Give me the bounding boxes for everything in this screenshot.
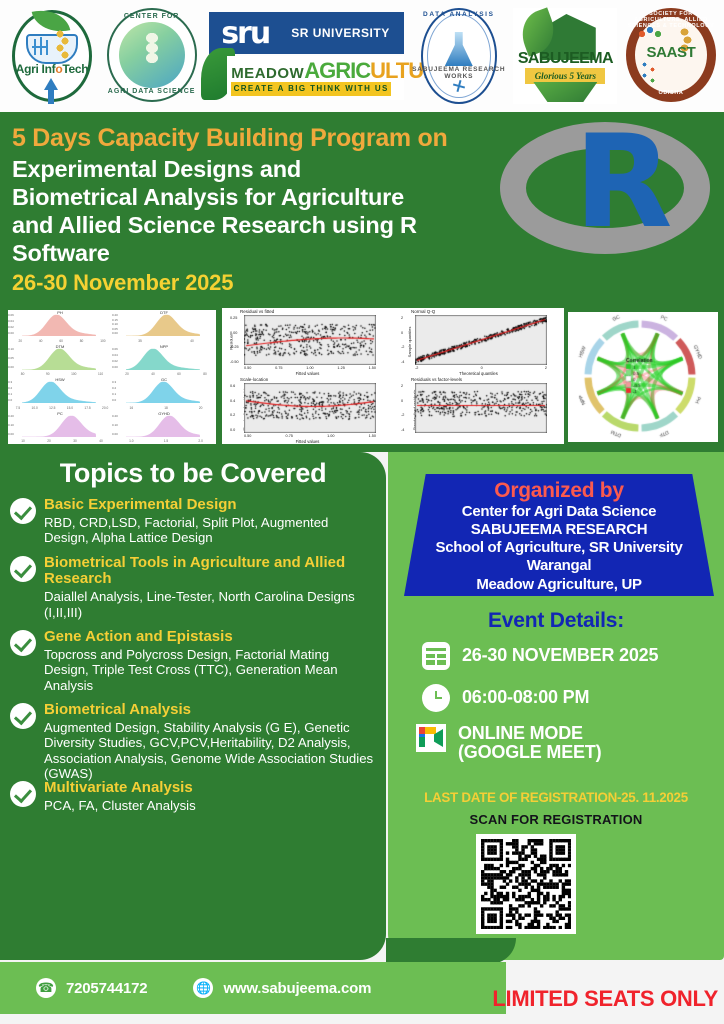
- program-title-line-4: Software: [12, 239, 512, 267]
- poster-root: Agri InfoTech CENTER FOR AGRI DATA SCIEN…: [0, 0, 724, 1024]
- event-time-row: 06:00-08:00 PM: [422, 684, 589, 712]
- topic-subtext: Augmented Design, Stability Analysis (G …: [44, 720, 374, 782]
- topic-text: Biometrical AnalysisAugmented Design, St…: [44, 702, 374, 782]
- diagnostic-x-ticks: 0.500.751.001.251.50: [244, 366, 376, 370]
- density-panel: HSW0.30.20.10.07.510.012.515.017.520.0: [8, 377, 112, 411]
- correlation-chord-plot: [568, 312, 718, 442]
- logo-center-agri-data-science: CENTER FOR AGRI DATA SCIENCE: [101, 6, 201, 106]
- wheat-icon: [56, 30, 70, 64]
- topics-list: Basic Experimental DesignRBD, CRD,LSD, F…: [0, 489, 386, 813]
- density-curve: [126, 381, 200, 403]
- density-y-ticks: 0.060.040.020.00: [8, 313, 14, 335]
- topic-heading: Multivariate Analysis: [44, 780, 374, 797]
- phone-icon: [36, 978, 56, 998]
- diagnostic-scatter: [415, 383, 547, 433]
- diagnostic-panel-title: Normal Q-Q: [411, 309, 435, 314]
- topic-item: Gene Action and EpistasisTopcross and Po…: [10, 629, 374, 693]
- plot-showcase-strip: PH0.060.040.020.0020406080100DTF0.200.15…: [0, 300, 724, 452]
- topic-subtext: RBD, CRD,LSD, Factorial, Split Plot, Aug…: [44, 515, 374, 546]
- event-mode-line-1: ONLINE MODE: [458, 724, 601, 743]
- topic-heading: Basic Experimental Design: [44, 497, 374, 514]
- diagnostic-panel: Residuals vs factor-levelsStandardized r…: [393, 376, 564, 444]
- partner-logo-bar: Agri InfoTech CENTER FOR AGRI DATA SCIEN…: [0, 0, 724, 112]
- program-title: Experimental Designs and Biometrical Ana…: [12, 155, 512, 268]
- diagnostic-scatter: [244, 383, 376, 433]
- logo-saast-title: SAAST: [634, 44, 708, 61]
- density-y-ticks: 0.30.20.10.0: [112, 380, 116, 402]
- logo-agri-infotech: Agri InfoTech: [4, 6, 100, 106]
- program-title-line-1: Experimental Designs and: [12, 155, 512, 183]
- organizer-line-2: SABUJEEMA RESEARCH: [404, 521, 714, 539]
- density-y-ticks: 0.200.150.100.050.00: [112, 313, 118, 335]
- limited-seats-notice: LIMITED SEATS ONLY: [492, 986, 718, 1012]
- logo-sabujeema-title: SABUJEEMA: [513, 50, 617, 68]
- density-curve: [22, 381, 96, 403]
- event-time-text: 06:00-08:00 PM: [462, 688, 589, 707]
- organizer-line-5: Meadow Agriculture, UP: [404, 576, 714, 594]
- google-meet-icon: [416, 724, 446, 752]
- logo-sru-short: sru: [221, 16, 269, 51]
- program-dates: 26-30 November 2025: [12, 270, 512, 296]
- registration-qr-code[interactable]: [476, 834, 576, 934]
- topic-text: Basic Experimental DesignRBD, CRD,LSD, F…: [44, 497, 374, 546]
- program-title-line-2: Biometrical Analysis for Agriculture: [12, 183, 512, 211]
- contact-footer: 7205744172 www.sabujeema.com: [0, 962, 506, 1014]
- check-circle-icon: [10, 781, 36, 807]
- website-contact[interactable]: www.sabujeema.com: [193, 978, 371, 998]
- density-y-ticks: 0.060.040.020.00: [112, 347, 118, 369]
- event-mode-text: ONLINE MODE (GOOGLE MEET): [458, 724, 601, 763]
- topic-heading: Biometrical Tools in Agriculture and All…: [44, 555, 374, 589]
- topics-title: Topics to be Covered: [0, 452, 386, 489]
- logo-agri-infotech-label: Agri InfoTech: [8, 62, 96, 76]
- event-date-text: 26-30 NOVEMBER 2025: [462, 646, 658, 665]
- logo-meadow-tagline: CREATE A BIG THINK WITH US: [231, 82, 391, 96]
- topic-heading: Gene Action and Epistasis: [44, 629, 374, 646]
- logo-saast: SOCIETY FOR AGRICULTURE, ALLIED SCIENCES…: [620, 6, 720, 106]
- calendar-icon: [422, 642, 450, 670]
- density-curve: [22, 314, 96, 336]
- topic-item: Biometrical AnalysisAugmented Design, St…: [10, 702, 374, 782]
- scan-label: SCAN FOR REGISTRATION: [388, 812, 724, 827]
- density-y-ticks: 0.30.20.10.0: [8, 380, 12, 402]
- molecule-icon: [638, 26, 662, 42]
- organizer-line-1: Center for Agri Data Science: [404, 503, 714, 521]
- circuit-icon: [30, 37, 52, 59]
- check-circle-icon: [10, 703, 36, 729]
- diagnostic-y-ticks: 20-2-4: [401, 316, 404, 364]
- logo-sabujeema-research-works: DATA ANALYSIS SABUJEEMA RESEARCH WORKS: [407, 6, 511, 106]
- density-x-ticks: 7.510.012.515.017.520.0: [10, 406, 114, 410]
- density-x-ticks: 1.01.52.0: [114, 439, 218, 443]
- last-registration-date: LAST DATE OF REGISTRATION-25. 11.2025: [388, 790, 724, 805]
- phone-contact[interactable]: 7205744172: [36, 978, 147, 998]
- organized-by-box: Organized by Center for Agri Data Scienc…: [404, 474, 714, 596]
- check-circle-icon: [10, 498, 36, 524]
- topic-text: Biometrical Tools in Agriculture and All…: [44, 555, 374, 620]
- event-date-row: 26-30 NOVEMBER 2025: [422, 642, 658, 670]
- density-y-ticks: 0.100.050.00: [8, 347, 14, 369]
- topic-item: Basic Experimental DesignRBD, CRD,LSD, F…: [10, 497, 374, 546]
- density-panel: PH0.060.040.020.0020406080100: [8, 310, 112, 344]
- logo-meadow-label: MEADOW: [231, 65, 304, 82]
- density-x-ticks: 8090100110: [10, 372, 114, 376]
- density-panel: NPP0.060.040.020.0020406080: [112, 344, 216, 378]
- diagnostic-panel-title: Residual vs fitted: [240, 309, 274, 314]
- panel-corner-fill: [386, 938, 516, 964]
- diagnostic-plot-grid: Residual vs fittedResidualFitted values0…: [222, 308, 564, 444]
- diagnostic-panel: Scale-location|Standardized residuals|Fi…: [222, 376, 393, 444]
- topic-text: Gene Action and EpistasisTopcross and Po…: [44, 629, 374, 693]
- r-logo-letter: R: [574, 128, 673, 238]
- density-plot-grid: PH0.060.040.020.0020406080100DTF0.200.15…: [8, 310, 216, 444]
- phone-number: 7205744172: [66, 980, 147, 997]
- diagnostic-panel-title: Residuals vs factor-levels: [411, 377, 462, 382]
- title-band: R 5 Days Capacity Building Program on Ex…: [0, 112, 724, 300]
- program-title-line-3: and Allied Science Research using R: [12, 211, 512, 239]
- topic-item: Biometrical Tools in Agriculture and All…: [10, 555, 374, 620]
- density-y-ticks: 0.200.100.00: [8, 414, 14, 436]
- topic-subtext: Daiallel Analysis, Line-Tester, North Ca…: [44, 589, 374, 620]
- diagnostic-y-ticks: 20-2-4: [401, 384, 404, 432]
- organizer-line-4: Warangal: [404, 557, 714, 575]
- topics-panel: Topics to be Covered Basic Experimental …: [0, 452, 386, 960]
- diagnostic-y-label: Sample quantiles: [407, 327, 412, 358]
- logo-sru-full: SR UNIVERSITY: [291, 26, 390, 40]
- density-panel: PC0.200.100.0010203040: [8, 411, 112, 445]
- diagnostic-y-ticks: 0.60.40.20.0: [230, 384, 235, 432]
- topic-item: Multivariate AnalysisPCA, FA, Cluster An…: [10, 780, 374, 813]
- diagnostic-x-label: Fitted values: [222, 439, 393, 444]
- density-panel: DTF0.200.150.100.050.003540: [112, 310, 216, 344]
- details-panel: Organized by Center for Agri Data Scienc…: [388, 452, 724, 960]
- organizer-line-3: School of Agriculture, SR University: [404, 539, 714, 557]
- globe-icon: [193, 978, 213, 998]
- diagnostic-panel-title: Scale-location: [240, 377, 268, 382]
- website-url: www.sabujeema.com: [223, 980, 371, 997]
- diagnostic-scatter: [244, 315, 376, 365]
- logo-cads-top-text: CENTER FOR: [107, 13, 197, 20]
- diagnostic-panel: Normal Q-QSample quantilesTheoretical qu…: [393, 308, 564, 376]
- density-curve: [126, 415, 200, 437]
- topic-subtext: PCA, FA, Cluster Analysis: [44, 798, 374, 813]
- diagnostic-x-ticks: -202: [415, 366, 547, 370]
- diagnostic-y-ticks: 0.250.00-0.25-0.50: [230, 316, 239, 364]
- logo-sabujeema: SABUJEEMA Glorious 5 Years: [511, 6, 619, 106]
- density-curve: [22, 415, 96, 437]
- density-x-ticks: 10203040: [10, 439, 114, 443]
- density-x-ticks: 20406080100: [10, 339, 114, 343]
- density-x-ticks: 20406080: [114, 372, 218, 376]
- density-y-ticks: 0.200.100.00: [112, 414, 118, 436]
- diagnostic-panel: Residual vs fittedResidualFitted values0…: [222, 308, 393, 376]
- diagnostic-scatter: [415, 315, 547, 365]
- density-curve: [22, 348, 96, 370]
- logo-srw-bottom-text: SABUJEEMA RESEARCH WORKS: [405, 66, 513, 80]
- arrow-up-icon: [44, 78, 58, 90]
- dna-icon: [642, 62, 662, 84]
- r-language-logo: R: [490, 112, 720, 300]
- logo-sr-university: sru SR UNIVERSITY MEADOW AGRICULTURE CRE…: [201, 6, 406, 106]
- logo-srw-top-text: DATA ANALYSIS: [421, 11, 497, 18]
- topic-heading: Biometrical Analysis: [44, 702, 374, 719]
- crop-icon: [145, 32, 159, 68]
- event-mode-line-2: (GOOGLE MEET): [458, 743, 601, 762]
- clock-icon: [422, 684, 450, 712]
- density-panel: GC0.30.20.10.0161820: [112, 377, 216, 411]
- check-circle-icon: [10, 630, 36, 656]
- check-circle-icon: [10, 556, 36, 582]
- topic-text: Multivariate AnalysisPCA, FA, Cluster An…: [44, 780, 374, 813]
- title-text-block: 5 Days Capacity Building Program on Expe…: [12, 124, 512, 296]
- density-curve: [126, 348, 200, 370]
- density-curve: [126, 314, 200, 336]
- event-mode-row: ONLINE MODE (GOOGLE MEET): [416, 724, 601, 763]
- event-details-title: Event Details:: [388, 609, 724, 633]
- logo-saast-bottom-text: ODISHA: [626, 90, 716, 96]
- density-x-ticks: 161820: [114, 406, 218, 410]
- density-panel: DTM0.100.050.008090100110: [8, 344, 112, 378]
- density-panel: GYHD0.200.100.001.01.52.0: [112, 411, 216, 445]
- diagnostic-x-ticks: 0.500.751.001.50: [244, 434, 376, 438]
- program-eyebrow: 5 Days Capacity Building Program on: [12, 124, 512, 154]
- logo-sabujeema-ribbon: Glorious 5 Years: [525, 68, 605, 84]
- density-x-ticks: 3540: [114, 339, 218, 343]
- logo-cads-bottom-text: AGRI DATA SCIENCE: [107, 88, 197, 95]
- organized-by-heading: Organized by: [404, 479, 714, 503]
- topic-subtext: Topcross and Polycross Design, Factorial…: [44, 647, 374, 693]
